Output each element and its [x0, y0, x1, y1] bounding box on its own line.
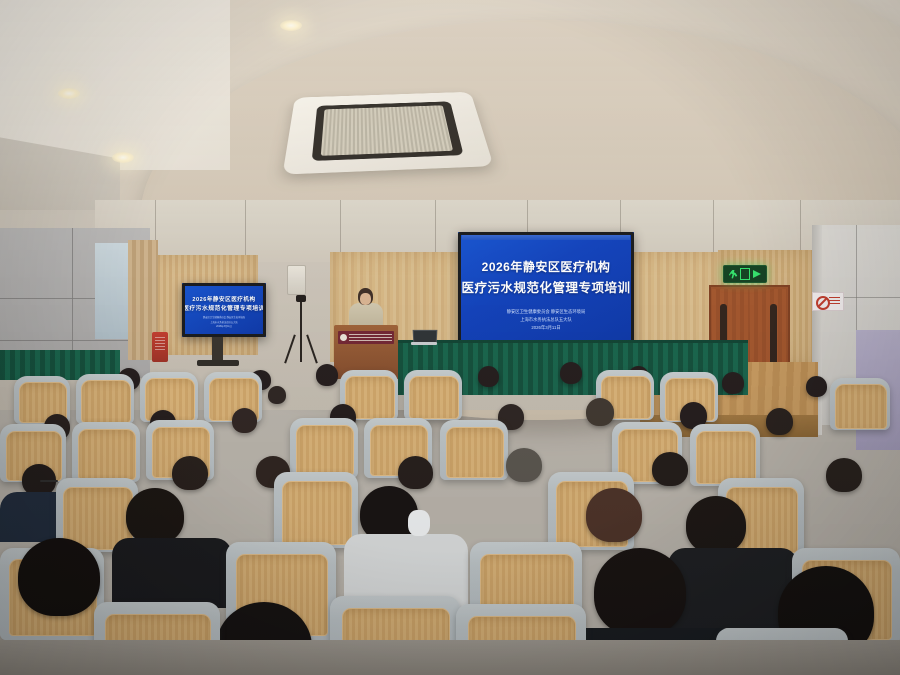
seat[interactable] [690, 424, 760, 486]
screen-title-line-1: 2026年静安区医疗机构 [458, 258, 634, 275]
seat-backrest [78, 429, 136, 480]
screen-subtitle: 静安区卫生健康委员会 静安区生态环境局 上海市水务执法总队五大队 2026年3月… [458, 308, 634, 332]
face-mask [408, 510, 430, 536]
attendee-head [126, 488, 184, 544]
seat[interactable] [830, 378, 890, 430]
attendee-head [18, 538, 100, 616]
attendee-head [686, 496, 746, 554]
attendee-head [478, 366, 499, 387]
ceiling-air-conditioner [283, 92, 494, 175]
ac-inner-frame [312, 101, 464, 160]
attendee-head [506, 448, 542, 482]
attendee-head [586, 488, 642, 542]
seat-backrest [296, 425, 354, 476]
seat[interactable] [440, 420, 508, 480]
attendee-head [826, 458, 862, 492]
side-screen-title-line-1: 2026年静安区医疗机构 [182, 295, 266, 303]
screen-title-line-2: 医疗污水规范化管理专项培训 [458, 277, 634, 296]
downlight-icon [112, 152, 134, 163]
screen-top-bar [462, 232, 631, 240]
emergency-exit-sign [723, 265, 767, 283]
attendee-head [586, 398, 614, 426]
attendee-head [316, 364, 338, 386]
arrow-right-icon [753, 270, 761, 278]
seat-backrest [81, 380, 131, 423]
attendee-head [594, 548, 686, 636]
auditorium-photo: 2026年静安区医疗机构 医疗污水规范化管理专项培训 静安区卫生健康委员会 静安… [0, 0, 900, 675]
screen-subtitle-line-2: 上海市水务执法总队五大队 [458, 316, 634, 324]
laptop[interactable] [411, 330, 437, 346]
downlight-icon [58, 88, 80, 99]
no-smoking-text-lines [829, 297, 840, 305]
exit-door-icon [740, 268, 750, 280]
attendee-head [398, 456, 433, 489]
podium-banner [338, 331, 394, 344]
wall-speaker [287, 265, 306, 295]
attendee-head [722, 372, 744, 394]
speaker-head [358, 288, 373, 305]
seat-backrest [409, 376, 459, 419]
side-screen-subtitle-line-3: 2026年3月11日 [182, 325, 266, 329]
seat[interactable] [404, 370, 462, 420]
side-monitor[interactable]: 2026年静安区医疗机构 医疗污水规范化管理专项培训 静安区卫生健康委员会 静安… [182, 283, 266, 337]
audience-seating [0, 352, 900, 675]
laptop-keyboard [411, 342, 437, 345]
seat[interactable] [274, 472, 358, 548]
no-smoking-sign [812, 292, 844, 311]
seat[interactable] [72, 422, 140, 482]
attendee-head [232, 408, 257, 433]
seat-backrest [696, 431, 755, 484]
seat-backrest [282, 481, 353, 545]
screen-subtitle-line-1: 静安区卫生健康委员会 静安区生态环境局 [458, 308, 634, 316]
attendee-shoulders [112, 538, 232, 608]
podium-banner-text [349, 334, 392, 342]
downlight-icon [280, 20, 302, 31]
tripod-head [296, 295, 306, 302]
attendee-head [560, 362, 582, 384]
ac-grille [321, 106, 453, 156]
attendee-head [268, 386, 286, 404]
attendee-head [766, 408, 793, 435]
side-screen-title-line-2: 医疗污水规范化管理专项培训 [182, 303, 266, 312]
seat[interactable] [290, 418, 358, 478]
side-screen-subtitle: 静安区卫生健康委员会 静安区生态环境局 上海市水务执法总队五大队 2026年3月… [182, 316, 266, 329]
glasses [40, 480, 58, 482]
seat-backrest [835, 384, 886, 429]
attendee-head [652, 452, 688, 486]
attendee-head [172, 456, 208, 490]
screen-subtitle-line-3: 2026年3月11日 [458, 324, 634, 332]
seat-backrest [446, 427, 504, 478]
podium-emblem-icon [340, 334, 347, 341]
main-led-screen[interactable]: 2026年静安区医疗机构 医疗污水规范化管理专项培训 静安区卫生健康委员会 静安… [458, 232, 634, 350]
seat[interactable] [76, 374, 134, 424]
speaker-face [360, 293, 371, 305]
running-person-icon [729, 270, 738, 279]
no-smoking-icon [816, 296, 830, 310]
aisle-floor [0, 640, 900, 675]
attendee-head [806, 376, 827, 397]
